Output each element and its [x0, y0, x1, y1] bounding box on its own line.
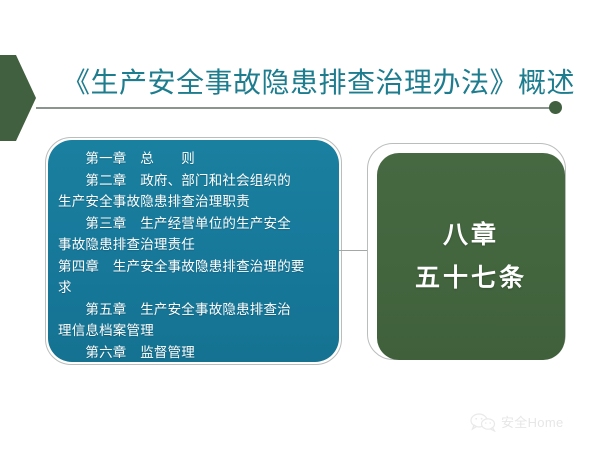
- chevron-right-icon: [0, 55, 36, 141]
- list-item: 求: [58, 277, 331, 299]
- watermark: 安全Home: [470, 412, 563, 432]
- list-item: 第二章 政府、部门和社会组织的: [58, 170, 331, 192]
- summary-box: 八章 五十七条: [377, 153, 565, 360]
- header-rule: [36, 107, 556, 109]
- list-item: 第一章 总 则: [58, 148, 331, 170]
- watermark-label: 安全Home: [501, 416, 563, 429]
- list-item: 事故隐患排查治理责任: [58, 234, 331, 256]
- list-item: 第五章 生产安全事故隐患排查治: [58, 299, 331, 321]
- summary-article-count: 五十七条: [415, 266, 527, 291]
- chapters-panel: 第一章 总 则 第二章 政府、部门和社会组织的 生产安全事故隐患排查治理职责 第…: [48, 140, 339, 362]
- list-item: 第六章 监督管理: [58, 342, 331, 363]
- page-title: 《生产安全事故隐患排查治理办法》概述: [62, 62, 552, 104]
- list-item: 第四章 生产安全事故隐患排查治理的要: [58, 256, 331, 278]
- list-item: 第三章 生产经营单位的生产安全: [58, 213, 331, 235]
- summary-chapter-count: 八章: [443, 223, 499, 248]
- chapters-list: 第一章 总 则 第二章 政府、部门和社会组织的 生产安全事故隐患排查治理职责 第…: [58, 148, 331, 362]
- slide-canvas: 《生产安全事故隐患排查治理办法》概述 第一章 总 则 第二章 政府、部门和社会组…: [0, 0, 600, 450]
- list-item: 理信息档案管理: [58, 320, 331, 342]
- wechat-bubbles-icon: [470, 412, 496, 432]
- list-item: 生产安全事故隐患排查治理职责: [58, 191, 331, 213]
